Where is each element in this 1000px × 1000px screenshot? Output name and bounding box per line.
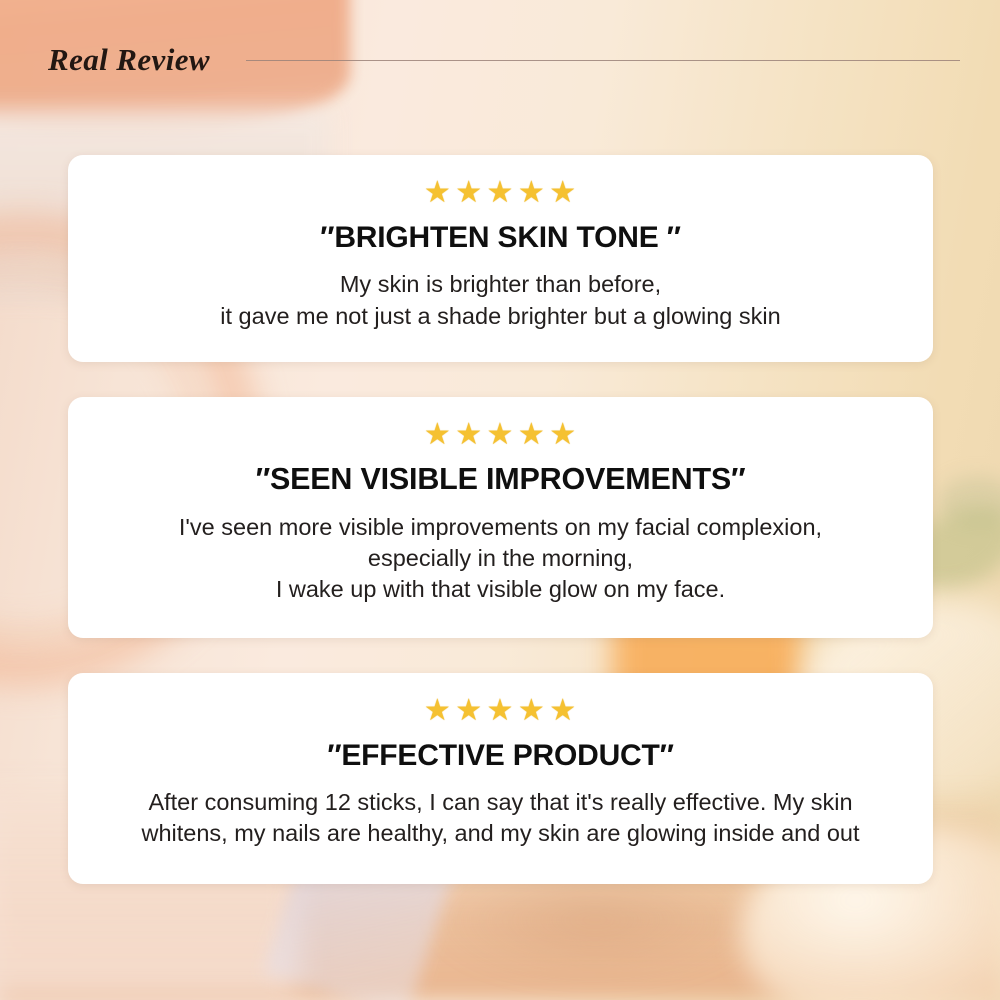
star-icon: ★ [549,178,577,208]
review-body-line: I wake up with that visible glow on my f… [94,574,907,605]
star-rating: ★ ★ ★ ★ ★ [94,178,907,208]
review-body-line: My skin is brighter than before, [94,269,907,300]
review-body: I've seen more visible improvements on m… [94,512,907,606]
review-page: Real Review ★ ★ ★ ★ ★ ″BRIGHTEN SKIN TON… [0,0,1000,1000]
review-body-line: After consuming 12 sticks, I can say tha… [94,787,907,818]
star-icon: ★ [518,696,546,726]
review-body: My skin is brighter than before, it gave… [94,269,907,332]
star-rating: ★ ★ ★ ★ ★ [94,696,907,726]
star-icon: ★ [424,420,452,450]
review-body-line: it gave me not just a shade brighter but… [94,301,907,332]
star-icon: ★ [455,178,483,208]
star-icon: ★ [487,420,515,450]
star-icon: ★ [455,696,483,726]
star-icon: ★ [518,420,546,450]
star-icon: ★ [549,696,577,726]
star-icon: ★ [549,420,577,450]
review-title: ″SEEN VISIBLE IMPROVEMENTS″ [94,462,907,498]
star-icon: ★ [424,696,452,726]
star-icon: ★ [487,696,515,726]
review-title: ″BRIGHTEN SKIN TONE ″ [94,220,907,255]
review-title: ″EFFECTIVE PRODUCT″ [94,738,907,773]
review-body: After consuming 12 sticks, I can say tha… [94,787,907,850]
review-card: ★ ★ ★ ★ ★ ″EFFECTIVE PRODUCT″ After cons… [68,673,933,884]
review-body-line: I've seen more visible improvements on m… [94,512,907,543]
review-card: ★ ★ ★ ★ ★ ″SEEN VISIBLE IMPROVEMENTS″ I'… [68,397,933,638]
star-icon: ★ [518,178,546,208]
review-body-line: whitens, my nails are healthy, and my sk… [94,818,907,849]
header-divider [246,60,960,61]
review-card: ★ ★ ★ ★ ★ ″BRIGHTEN SKIN TONE ″ My skin … [68,155,933,362]
page-header: Real Review [0,30,1000,90]
star-icon: ★ [487,178,515,208]
star-icon: ★ [424,178,452,208]
review-card-list: ★ ★ ★ ★ ★ ″BRIGHTEN SKIN TONE ″ My skin … [68,155,933,884]
review-body-line: especially in the morning, [94,543,907,574]
star-rating: ★ ★ ★ ★ ★ [94,420,907,450]
page-title: Real Review [48,42,210,78]
star-icon: ★ [455,420,483,450]
